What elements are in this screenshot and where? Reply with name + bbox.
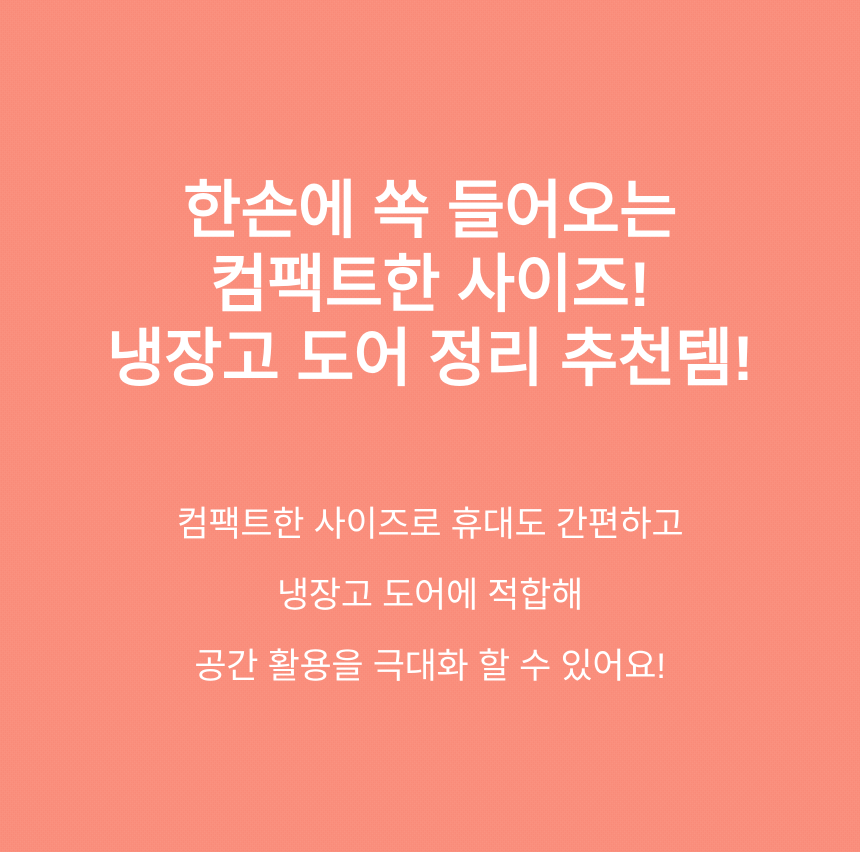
body-line-1: 컴팩트한 사이즈로 휴대도 간편하고 <box>0 489 860 560</box>
headline-line-3: 냉장고 도어 정리 추천템! <box>0 322 860 396</box>
headline-block: 한손에 쏙 들어오는 컴팩트한 사이즈! 냉장고 도어 정리 추천템! <box>0 174 860 396</box>
body-description-block: 컴팩트한 사이즈로 휴대도 간편하고 냉장고 도어에 적합해 공간 활용을 극대… <box>0 489 860 702</box>
promo-banner: 한손에 쏙 들어오는 컴팩트한 사이즈! 냉장고 도어 정리 추천템! 컴팩트한… <box>0 0 860 852</box>
banner-content: 한손에 쏙 들어오는 컴팩트한 사이즈! 냉장고 도어 정리 추천템! 컴팩트한… <box>0 0 860 852</box>
headline-line-1: 한손에 쏙 들어오는 <box>0 174 860 248</box>
body-line-3: 공간 활용을 극대화 할 수 있어요! <box>0 631 860 702</box>
body-line-2: 냉장고 도어에 적합해 <box>0 560 860 631</box>
headline-line-2: 컴팩트한 사이즈! <box>0 248 860 322</box>
